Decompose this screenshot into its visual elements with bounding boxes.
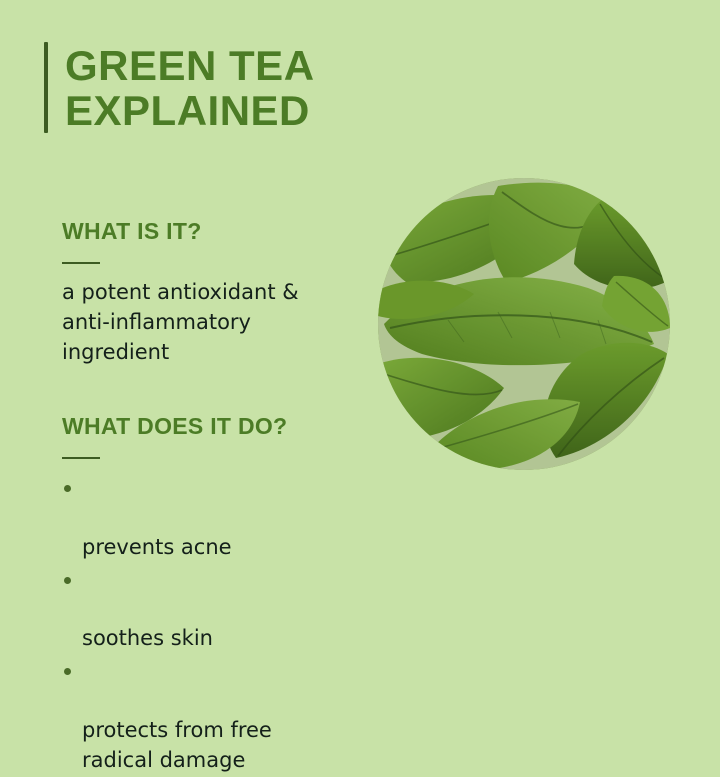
section-what-does-it-do: WHAT DOES IT DO? prevents acne soothes s… (62, 413, 362, 776)
page-title: GREEN TEA EXPLAINED (65, 42, 315, 133)
content-column: WHAT IS IT? a potent antioxidant & anti-… (62, 218, 362, 777)
list-item: prevents acne (62, 473, 362, 562)
bullet-dot-icon (64, 577, 71, 584)
green-tea-leaves-photo (378, 178, 670, 470)
infographic-canvas: GREEN TEA EXPLAINED WHAT IS IT? a potent… (0, 0, 720, 720)
leaves-illustration (378, 178, 670, 470)
list-item-label: protects from free radical damage (82, 718, 272, 772)
list-item: protects from free radical damage (62, 656, 362, 775)
bullet-dot-icon (64, 485, 71, 492)
section-heading-what-is-it: WHAT IS IT? (62, 218, 362, 244)
section-divider (62, 262, 100, 264)
section-body-what-is-it: a potent antioxidant & anti-inflammatory… (62, 278, 362, 367)
bullet-dot-icon (64, 668, 71, 675)
section-divider (62, 457, 100, 459)
section-heading-what-does-it-do: WHAT DOES IT DO? (62, 413, 362, 439)
title-accent-rule (44, 42, 48, 133)
section-what-is-it: WHAT IS IT? a potent antioxidant & anti-… (62, 218, 362, 368)
list-item-label: soothes skin (82, 626, 213, 650)
benefits-list: prevents acne soothes skin protects from… (62, 473, 362, 775)
list-item-label: prevents acne (82, 535, 232, 559)
page-title-block: GREEN TEA EXPLAINED (44, 42, 315, 133)
list-item: soothes skin (62, 565, 362, 654)
